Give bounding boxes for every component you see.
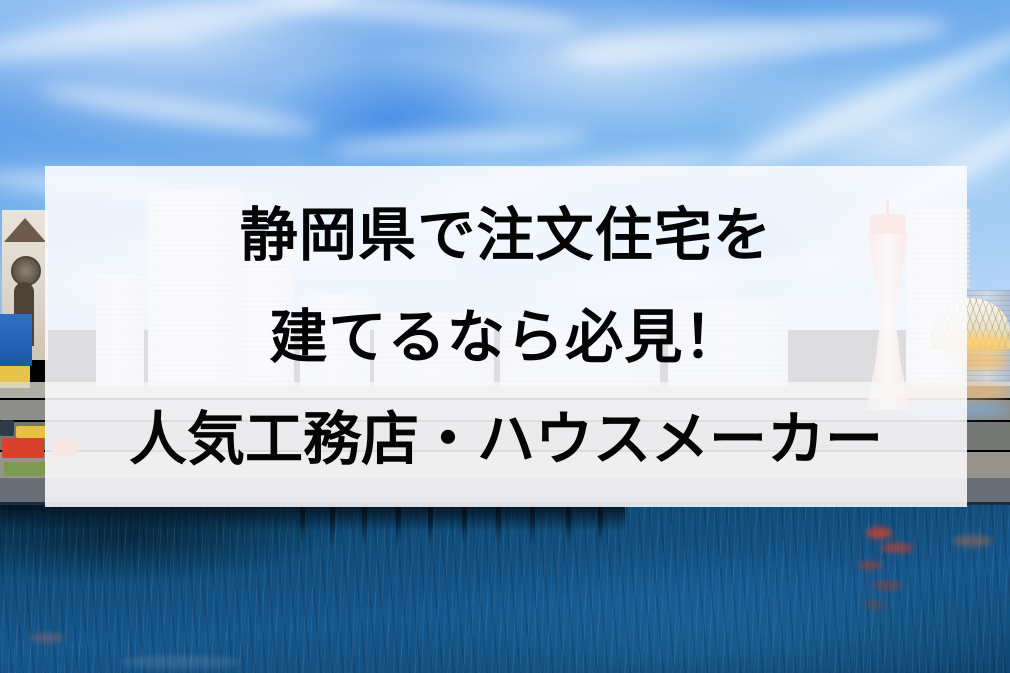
- water-region: [0, 505, 1010, 673]
- text-overlay-panel: 静岡県で注文住宅を 建てるなら必見！ 人気工務店・ハウスメーカー: [45, 166, 967, 507]
- light-reflection: [952, 535, 992, 547]
- pier-piling: [428, 505, 433, 545]
- surface-highlight: [120, 655, 240, 669]
- tower-reflection: [872, 581, 902, 590]
- cloud-streak: [0, 0, 360, 73]
- tower-reflection: [880, 543, 914, 553]
- pier-piling: [598, 505, 603, 545]
- pier-piling: [496, 505, 501, 545]
- cloud-streak: [559, 8, 951, 71]
- pier-piling: [396, 505, 401, 545]
- tower-reflection: [864, 601, 886, 609]
- light-reflection: [30, 633, 64, 643]
- tower-reflection: [858, 561, 882, 570]
- headline-line-2: 建てるなら必見！: [269, 308, 742, 366]
- street-fixture: [0, 420, 14, 436]
- yellow-sign: [16, 426, 46, 438]
- church-roof: [4, 218, 46, 242]
- pier-piling: [462, 505, 467, 545]
- pier-piling: [330, 505, 335, 545]
- cloud-streak: [249, 0, 580, 41]
- pier-piling: [300, 505, 305, 545]
- cloud-streak: [330, 125, 591, 161]
- pier-piling: [566, 505, 571, 545]
- red-bus: [2, 438, 44, 458]
- planter: [4, 462, 48, 476]
- pier-piling: [530, 505, 535, 545]
- pier-piling: [362, 505, 367, 545]
- headline-line-1: 静岡県で注文住宅を: [240, 206, 772, 264]
- headline-line-3: 人気工務店・ハウスメーカー: [129, 410, 883, 468]
- cloud-streak: [40, 79, 321, 142]
- banner-image: 静岡県で注文住宅を 建てるなら必見！ 人気工務店・ハウスメーカー: [0, 0, 1010, 673]
- tower-reflection: [866, 527, 892, 539]
- signage-panel: [0, 314, 32, 366]
